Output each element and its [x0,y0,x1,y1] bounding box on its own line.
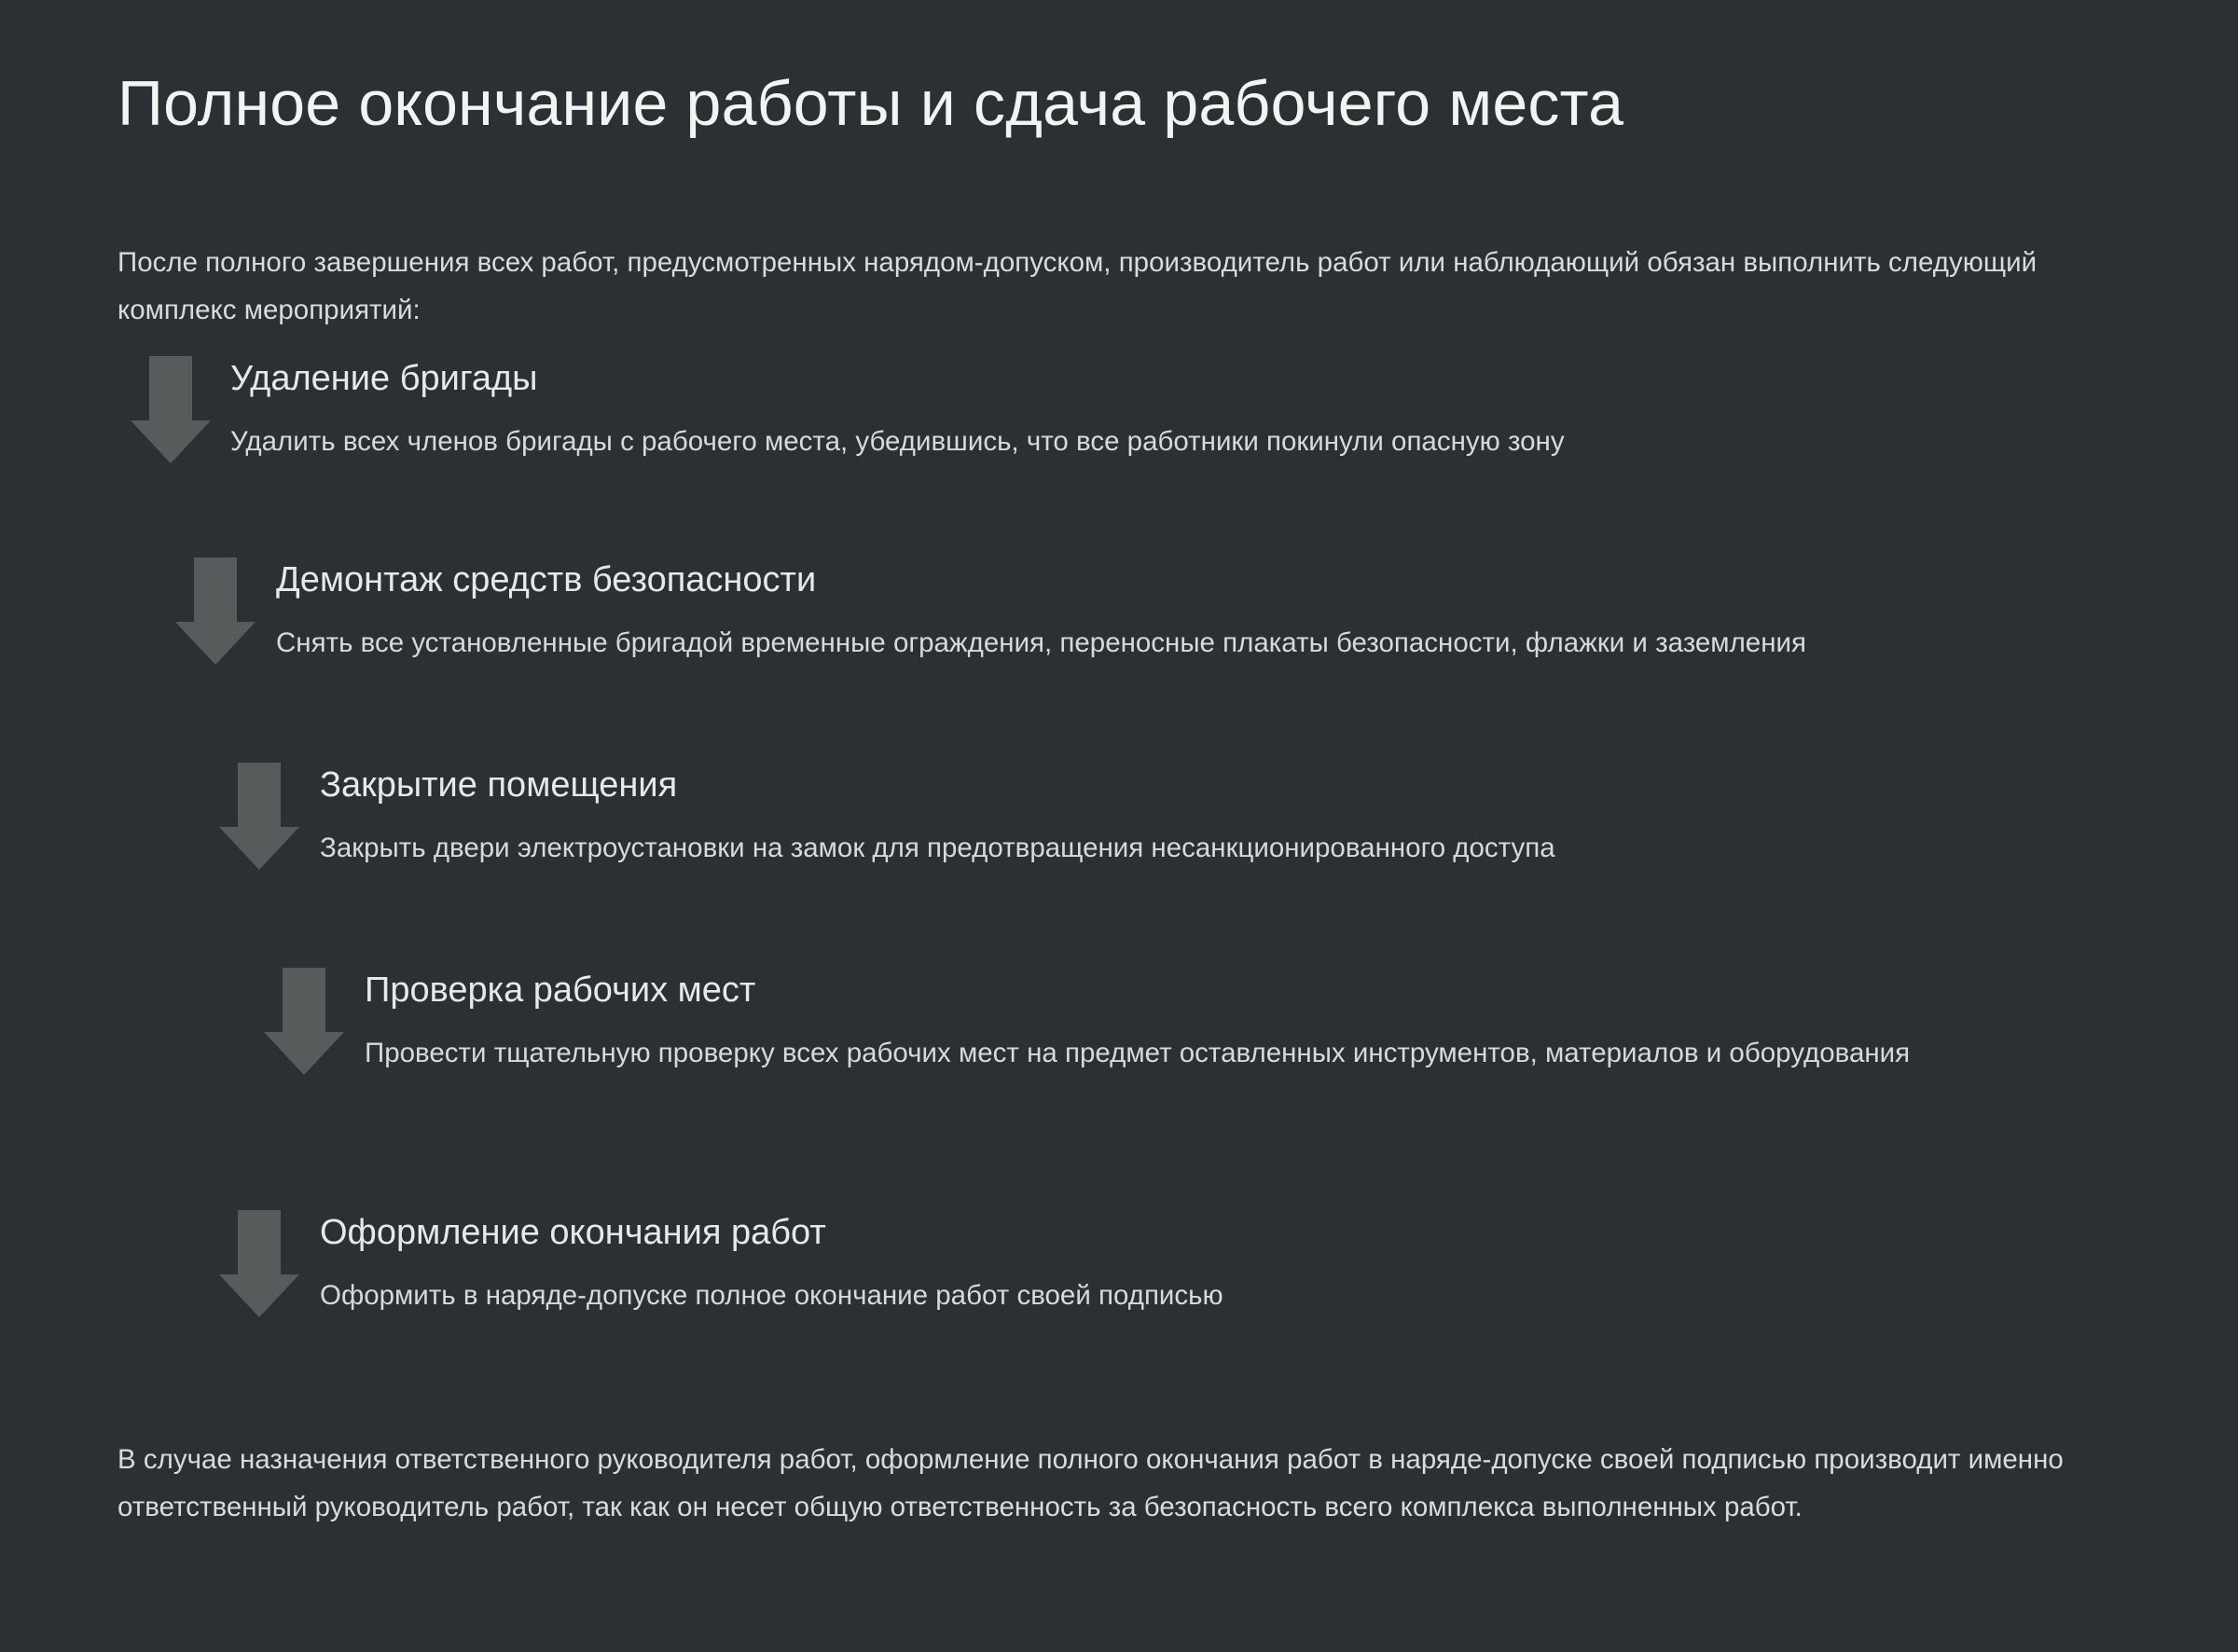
step-description: Удалить всех членов бригады с рабочего м… [230,418,1816,465]
intro-paragraph: После полного завершения всех работ, пре… [117,239,2076,334]
step-title: Удаление бригады [230,356,1816,401]
step-title: Закрытие помещения [320,763,1998,807]
step-text-block: Демонтаж средств безопасностиСнять все у… [276,558,2048,667]
step-description: Провести тщательную проверку всех рабочи… [365,1029,1931,1077]
down-arrow-icon [219,763,299,870]
step-text-block: Удаление бригадыУдалить всех членов бриг… [230,356,1816,465]
step-text-block: Закрытие помещенияЗакрыть двери электроу… [320,763,1998,872]
down-arrow-icon [131,356,211,463]
step-description: Оформить в наряде-допуске полное окончан… [320,1272,1998,1319]
step-description: Закрыть двери электроустановки на замок … [320,824,1998,872]
step-title: Проверка рабочих мест [365,968,1931,1012]
step-title: Демонтаж средств безопасности [276,558,2048,602]
page-title: Полное окончание работы и сдача рабочего… [117,67,1623,140]
down-arrow-icon [175,558,256,665]
slide-root: Полное окончание работы и сдача рабочего… [0,0,2238,1652]
step-text-block: Оформление окончания работОформить в нар… [320,1210,1998,1319]
step-description: Снять все установленные бригадой временн… [276,619,2048,667]
down-arrow-icon [264,968,344,1075]
down-arrow-icon [219,1210,299,1317]
step-text-block: Проверка рабочих местПровести тщательную… [365,968,1931,1077]
outro-paragraph: В случае назначения ответственного руков… [117,1436,2104,1531]
step-title: Оформление окончания работ [320,1210,1998,1255]
